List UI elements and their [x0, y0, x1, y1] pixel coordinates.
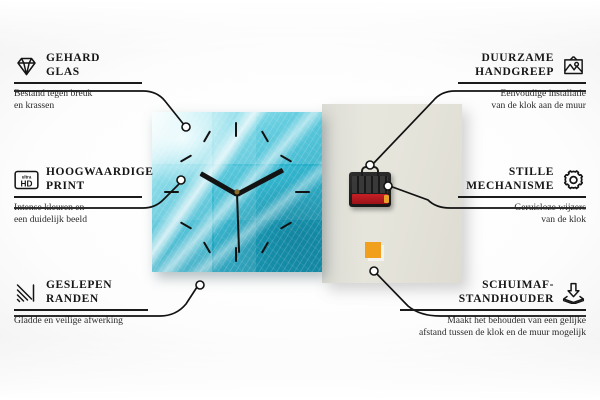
- feature-subtitle: Intense kleuren en een duidelijk beeld: [14, 202, 142, 227]
- feature-title: STILLE MECHANISME: [466, 166, 554, 193]
- feature-title: SCHUIMAF- STANDHOUDER: [459, 279, 554, 306]
- ultra-hd-icon: ultra HD: [14, 169, 39, 191]
- feature-gehard-glas[interactable]: GEHARD GLAS Bestand tegen breuk en krass…: [14, 52, 142, 113]
- feature-header: STILLE MECHANISME: [458, 166, 586, 193]
- subtitle-line-2: een duidelijk beeld: [14, 214, 87, 225]
- feature-stille-mechanisme[interactable]: STILLE MECHANISME Geruisloze wijzers van…: [458, 166, 586, 227]
- feature-title: HOOGWAARDIGE PRINT: [46, 166, 154, 193]
- title-line-2: MECHANISME: [466, 180, 554, 192]
- feature-title: GEHARD GLAS: [46, 52, 100, 79]
- subtitle-line-2: afstand tussen de klok en de muur mogeli…: [419, 327, 586, 338]
- feature-duurzame-handgreep[interactable]: DUURZAME HANDGREEP Eenvoudige installati…: [458, 52, 586, 113]
- title-line-1: SCHUIMAF-: [482, 279, 554, 291]
- divider: [400, 309, 586, 311]
- title-line-1: HOOGWAARDIGE: [46, 166, 154, 178]
- diamond-icon: [14, 55, 39, 77]
- feature-header: GESLEPEN RANDEN: [14, 279, 148, 306]
- divider: [14, 309, 148, 311]
- divider: [14, 82, 142, 84]
- mechanism-hook: [361, 166, 379, 176]
- infographic-canvas: GEHARD GLAS Bestand tegen breuk en krass…: [0, 0, 600, 400]
- feature-title: DUURZAME HANDGREEP: [475, 52, 554, 79]
- subtitle-line-2: van de klok: [541, 214, 586, 225]
- divider: [14, 196, 142, 198]
- title-line-1: DUURZAME: [481, 52, 554, 64]
- feature-subtitle: Maakt het behouden van een gelijke afsta…: [400, 315, 586, 340]
- clock-mechanism: [349, 172, 391, 207]
- title-line-2: RANDEN: [46, 293, 99, 305]
- divider: [458, 196, 586, 198]
- feature-subtitle: Geruisloze wijzers van de klok: [458, 202, 586, 227]
- picture-frame-icon: [561, 55, 586, 77]
- title-line-1: STILLE: [509, 166, 554, 178]
- battery: [352, 194, 388, 204]
- subtitle-line-1: Bestand tegen breuk: [14, 88, 92, 99]
- feature-subtitle: Bestand tegen breuk en krassen: [14, 88, 142, 113]
- title-line-2: GLAS: [46, 66, 80, 78]
- feature-subtitle: Gladde en veilige afwerking: [14, 315, 148, 327]
- wall-surface: [322, 104, 462, 283]
- subtitle-line-2: en krassen: [14, 100, 54, 111]
- mechanism-housing: [352, 176, 388, 193]
- foam-spacer-pad: [365, 242, 381, 258]
- clock-glass-panel: [152, 112, 322, 272]
- subtitle-line-2: van de klok aan de muur: [491, 100, 586, 111]
- title-line-1: GEHARD: [46, 52, 100, 64]
- hour-mark: [164, 191, 179, 193]
- subtitle-line-1: Eenvoudige installatie: [500, 88, 586, 99]
- feature-subtitle: Eenvoudige installatie van de klok aan d…: [458, 88, 586, 113]
- hour-mark: [295, 191, 310, 193]
- feature-geslepen-randen[interactable]: GESLEPEN RANDEN Gladde en veilige afwerk…: [14, 279, 148, 327]
- title-line-2: STANDHOUDER: [459, 293, 554, 305]
- press-down-pad-icon: [561, 282, 586, 304]
- title-line-1: GESLEPEN: [46, 279, 112, 291]
- subtitle-line-1: Geruisloze wijzers: [514, 202, 586, 213]
- title-line-2: HANDGREEP: [475, 66, 554, 78]
- feature-header: GEHARD GLAS: [14, 52, 142, 79]
- svg-text:HD: HD: [21, 179, 33, 188]
- beveled-edges-icon: [14, 282, 39, 304]
- feature-schuimafstandhouder[interactable]: SCHUIMAF- STANDHOUDER Maakt het behouden…: [400, 279, 586, 340]
- hour-mark: [235, 247, 237, 262]
- subtitle-line-1: Gladde en veilige afwerking: [14, 315, 123, 326]
- title-line-2: PRINT: [46, 180, 85, 192]
- hand-center-cap: [235, 190, 240, 195]
- subtitle-line-1: Maakt het behouden van een gelijke: [447, 315, 586, 326]
- subtitle-line-1: Intense kleuren en: [14, 202, 84, 213]
- feature-header: DUURZAME HANDGREEP: [458, 52, 586, 79]
- divider: [458, 82, 586, 84]
- gear-icon: [561, 169, 586, 191]
- feature-hoogwaardige-print[interactable]: ultra HD HOOGWAARDIGE PRINT Intense kleu…: [14, 166, 142, 227]
- feature-title: GESLEPEN RANDEN: [46, 279, 112, 306]
- hour-mark: [235, 122, 237, 137]
- feature-header: SCHUIMAF- STANDHOUDER: [400, 279, 586, 306]
- feature-header: ultra HD HOOGWAARDIGE PRINT: [14, 166, 142, 193]
